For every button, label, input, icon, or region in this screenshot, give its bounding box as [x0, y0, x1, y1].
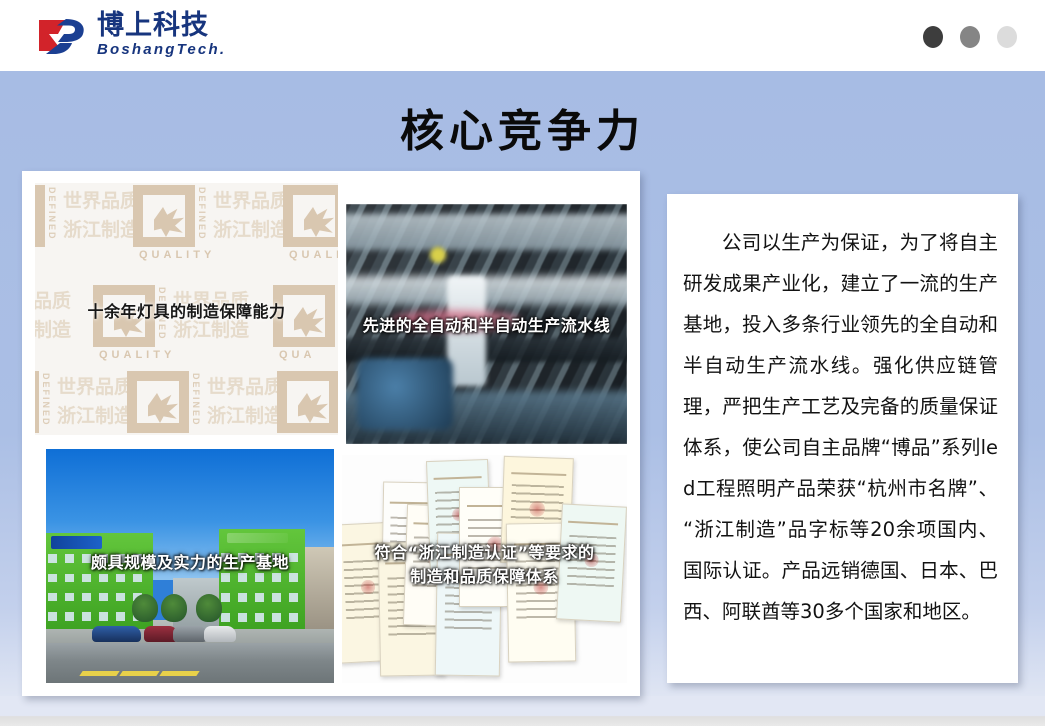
dot-light-icon[interactable]: [997, 26, 1017, 48]
collage-cell-quality-watermark[interactable]: DEFINED LITY 世界品质浙江制造 DEFINED QUALITY 世界…: [35, 183, 338, 435]
collage-cell-certificates[interactable]: 符合“浙江制造认证”等要求的 制造和品质保障体系: [342, 455, 627, 683]
collage-cell-factory-base[interactable]: 颇具规模及实力的生产基地: [46, 449, 334, 683]
logo-english-name: BoshangTech.: [97, 42, 226, 57]
brand-logo[interactable]: 博上科技 BoshangTech.: [36, 12, 226, 57]
collage-caption-factory-base: 颇具规模及实力的生产基地: [46, 551, 334, 575]
description-paragraph: 公司以生产为保证，为了将自主研发成果产业化，建立了一流的生产基地，投入多条行业领…: [683, 222, 998, 632]
window-dots[interactable]: [923, 26, 1017, 48]
dot-medium-icon[interactable]: [960, 26, 980, 48]
logo-chinese-name: 博上科技: [97, 12, 226, 39]
page-title: 核心竞争力: [0, 95, 1045, 159]
collage-card: DEFINED LITY 世界品质浙江制造 DEFINED QUALITY 世界…: [22, 171, 640, 696]
dot-dark-icon[interactable]: [923, 26, 943, 48]
collage-caption-certificates-line2: 制造和品质保障体系: [342, 565, 627, 589]
description-panel: 公司以生产为保证，为了将自主研发成果产业化，建立了一流的生产基地，投入多条行业领…: [667, 194, 1018, 683]
collage-caption-production-line: 先进的全自动和半自动生产流水线: [346, 314, 627, 338]
collage-caption-quality: 十余年灯具的制造保障能力: [35, 300, 338, 324]
header-bar: 博上科技 BoshangTech.: [0, 0, 1045, 71]
boshang-b-mark-icon: [36, 13, 88, 57]
image-collage: DEFINED LITY 世界品质浙江制造 DEFINED QUALITY 世界…: [35, 183, 627, 683]
collage-caption-certificates-line1: 符合“浙江制造认证”等要求的: [342, 541, 627, 565]
collage-cell-production-line[interactable]: 先进的全自动和半自动生产流水线: [346, 204, 627, 444]
slide-root: 博上科技 BoshangTech. 核心竞争力 DEFINED LITY 世: [0, 0, 1045, 726]
